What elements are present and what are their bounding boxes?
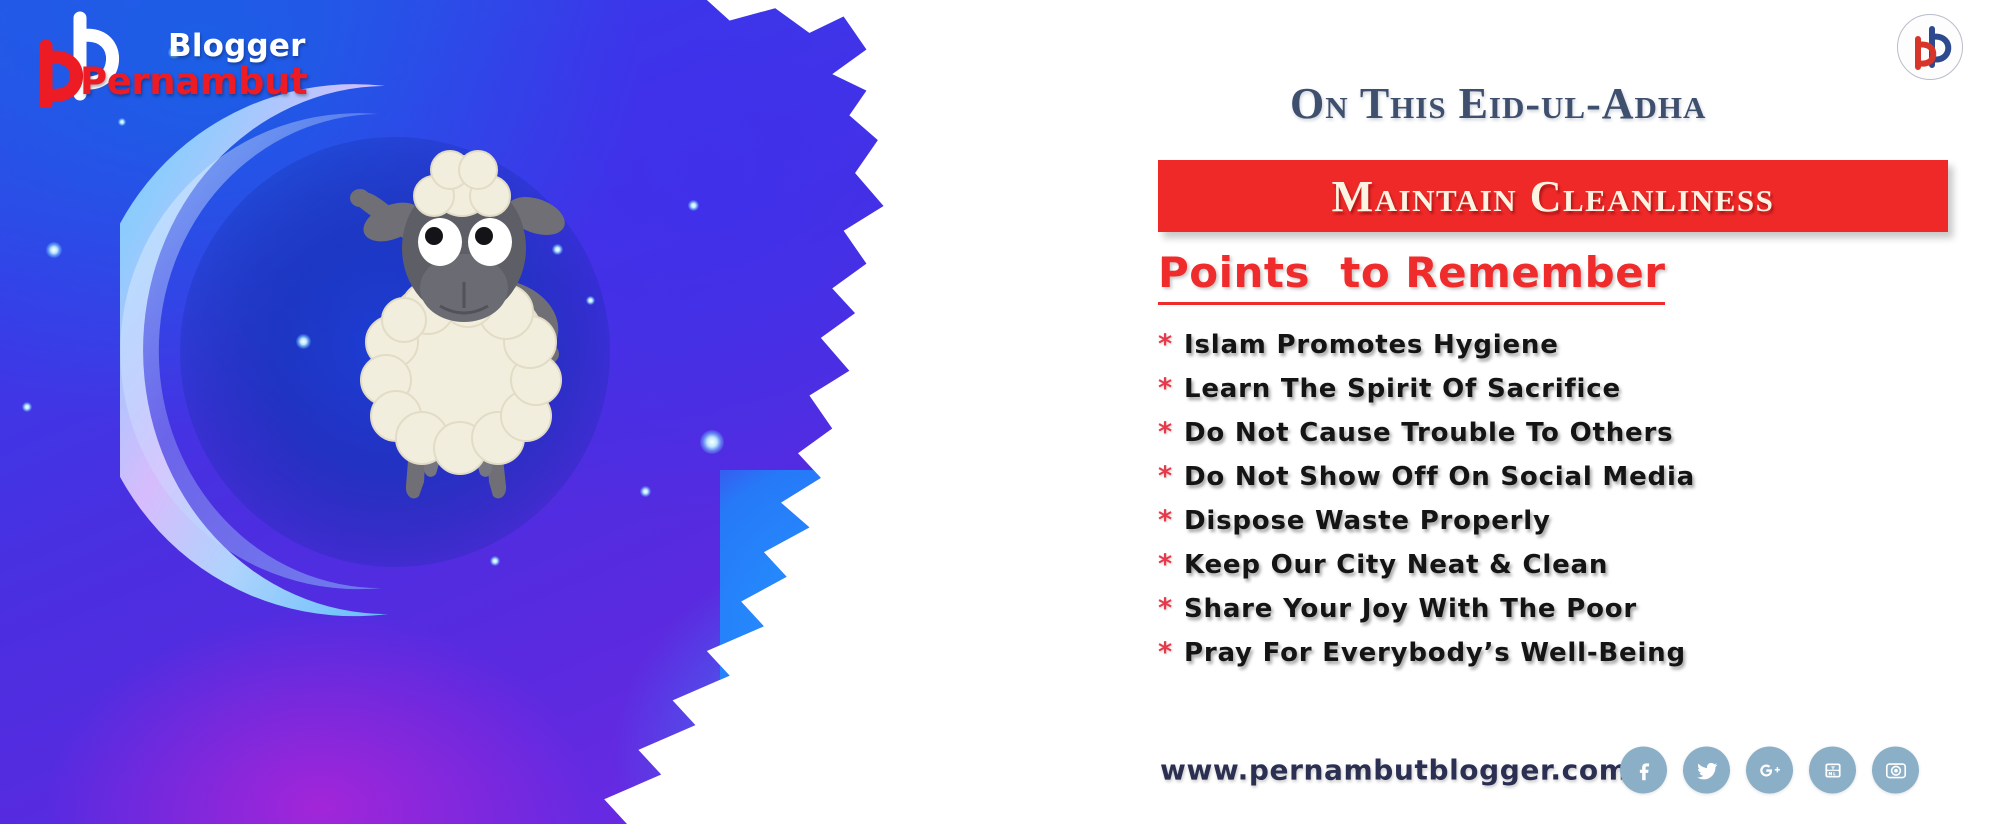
list-item-label: Keep Our City Neat & Clean	[1184, 550, 1608, 580]
asterisk-bullet-icon: *	[1158, 419, 1184, 446]
pink-watercolor-splash	[880, 0, 1140, 130]
list-item: * Learn The Spirit Of Sacrifice	[1158, 374, 1978, 418]
star-sparkle	[806, 542, 824, 560]
list-item-label: Share Your Joy With The Poor	[1184, 594, 1637, 624]
points-list: * Islam Promotes Hygiene * Learn The Spi…	[1158, 330, 1978, 682]
facebook-icon	[1631, 757, 1657, 783]
twitter-link[interactable]	[1683, 747, 1730, 794]
pernambut-blogger-logo[interactable]: Blogger Pernambut	[18, 8, 358, 118]
asterisk-bullet-icon: *	[1158, 463, 1184, 490]
google-plus-icon	[1757, 757, 1783, 783]
list-item-label: Islam Promotes Hygiene	[1184, 330, 1559, 360]
instagram-link[interactable]	[1872, 747, 1919, 794]
asterisk-bullet-icon: *	[1158, 639, 1184, 666]
headline-banner-text: Maintain Cleanliness	[1158, 160, 1948, 232]
twitter-icon	[1694, 757, 1720, 783]
list-item-label: Dispose Waste Properly	[1184, 506, 1551, 536]
list-item: * Islam Promotes Hygiene	[1158, 330, 1978, 374]
social-links	[1620, 747, 1919, 794]
list-item-label: Do Not Show Off On Social Media	[1184, 462, 1695, 492]
list-item: * Do Not Cause Trouble To Others	[1158, 418, 1978, 462]
list-item: * Keep Our City Neat & Clean	[1158, 550, 1978, 594]
list-item-label: Do Not Cause Trouble To Others	[1184, 418, 1673, 448]
sheep-illustration	[300, 130, 630, 510]
instagram-camera-icon	[1883, 757, 1909, 783]
list-item: * Pray For Everybody’s Well-Being	[1158, 638, 1978, 682]
asterisk-bullet-icon: *	[1158, 507, 1184, 534]
list-item-label: Pray For Everybody’s Well-Being	[1184, 638, 1686, 668]
youtube-icon	[1820, 757, 1846, 783]
content-panel: On This Eid-ul-Adha Maintain Cleanliness…	[1130, 0, 1991, 824]
asterisk-bullet-icon: *	[1158, 551, 1184, 578]
asterisk-bullet-icon: *	[1158, 595, 1184, 622]
list-item: * Dispose Waste Properly	[1158, 506, 1978, 550]
watercolor-torn-edge-mask	[0, 0, 1140, 824]
headline-banner: Maintain Cleanliness	[1158, 160, 1948, 232]
website-url[interactable]: www.pernambutblogger.com	[1160, 754, 1628, 787]
facebook-link[interactable]	[1620, 747, 1667, 794]
logo-pernambut-label: Pernambut	[80, 60, 307, 103]
list-item-label: Learn The Spirit Of Sacrifice	[1184, 374, 1621, 404]
list-item: * Share Your Joy With The Poor	[1158, 594, 1978, 638]
artwork-panel	[0, 0, 1140, 824]
asterisk-bullet-icon: *	[1158, 331, 1184, 358]
youtube-link[interactable]	[1809, 747, 1856, 794]
page-title: On This Eid-ul-Adha	[1290, 78, 1706, 129]
points-to-remember-heading: Points to Remember	[1158, 248, 1665, 305]
asterisk-bullet-icon: *	[1158, 375, 1184, 402]
logo-blogger-label: Blogger	[168, 28, 306, 64]
eid-greeting-banner: Blogger Pernambut On This Eid-ul-Adha Ma…	[0, 0, 1991, 824]
google-plus-link[interactable]	[1746, 747, 1793, 794]
list-item: * Do Not Show Off On Social Media	[1158, 462, 1978, 506]
